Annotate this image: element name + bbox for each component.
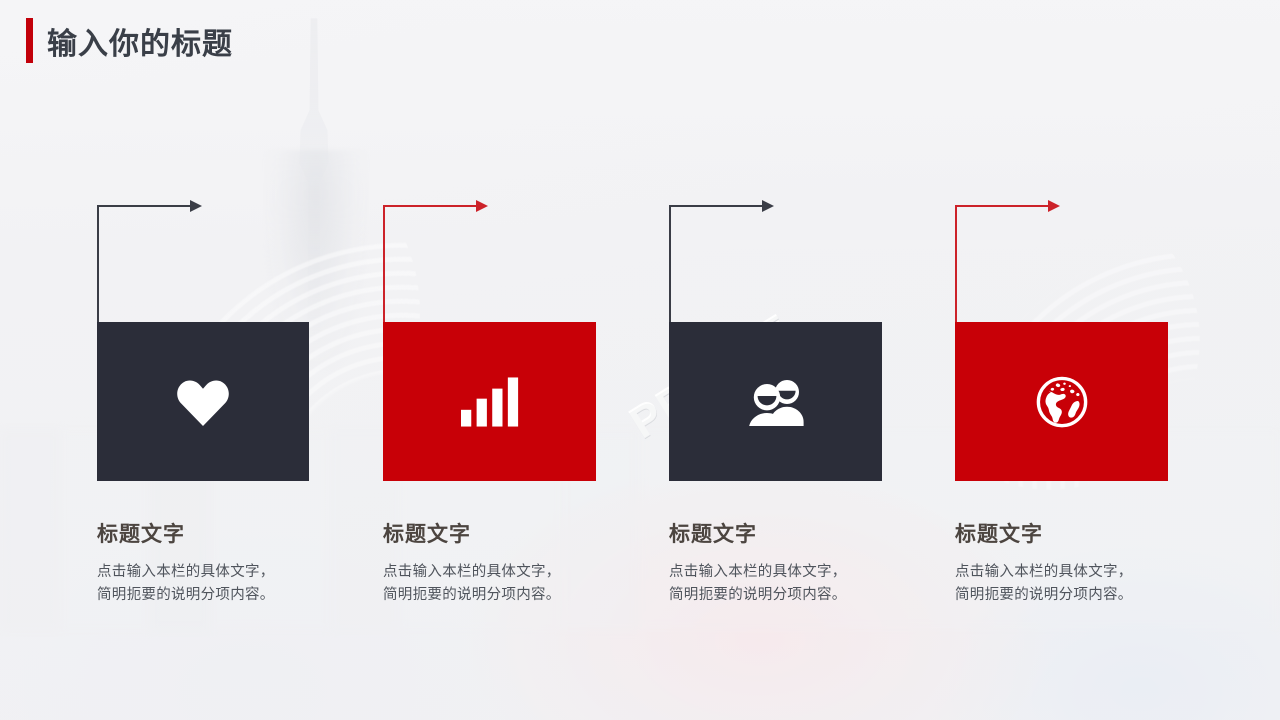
column-body-3: 点击输入本栏的具体文字， 简明扼要的说明分项内容。 (669, 561, 919, 608)
connector-arrow-3 (669, 205, 889, 325)
column-body-line2-1: 简明扼要的说明分项内容。 (97, 584, 347, 607)
bar-chart-icon (457, 369, 523, 435)
connector-arrow-2 (383, 205, 603, 325)
column-text-4: 标题文字 点击输入本栏的具体文字， 简明扼要的说明分项内容。 (955, 518, 1205, 608)
slide-canvas: PPT边框 输入你的标题 标题文字 点击输 (0, 0, 1280, 720)
column-body-4: 点击输入本栏的具体文字， 简明扼要的说明分项内容。 (955, 561, 1205, 608)
column-body-line1-3: 点击输入本栏的具体文字， (669, 561, 919, 584)
column-text-3: 标题文字 点击输入本栏的具体文字， 简明扼要的说明分项内容。 (669, 518, 919, 608)
connector-arrow-4 (955, 205, 1175, 325)
column-body-line2-3: 简明扼要的说明分项内容。 (669, 584, 919, 607)
heart-icon (170, 369, 236, 435)
column-title-2: 标题文字 (383, 518, 633, 548)
column-body-line1-1: 点击输入本栏的具体文字， (97, 561, 347, 584)
icon-panel-1[interactable] (97, 322, 309, 481)
column-2[interactable]: 标题文字 点击输入本栏的具体文字， 简明扼要的说明分项内容。 (383, 0, 671, 720)
column-1[interactable]: 标题文字 点击输入本栏的具体文字， 简明扼要的说明分项内容。 (97, 0, 385, 720)
column-title-3: 标题文字 (669, 518, 919, 548)
connector-arrow-1 (97, 205, 317, 325)
icon-panel-4[interactable] (955, 322, 1168, 481)
column-title-1: 标题文字 (97, 518, 347, 548)
icon-panel-3[interactable] (669, 322, 882, 481)
column-3[interactable]: 标题文字 点击输入本栏的具体文字， 简明扼要的说明分项内容。 (669, 0, 957, 720)
column-title-4: 标题文字 (955, 518, 1205, 548)
content-columns: 标题文字 点击输入本栏的具体文字， 简明扼要的说明分项内容。 (0, 0, 1280, 720)
column-body-line1-2: 点击输入本栏的具体文字， (383, 561, 633, 584)
users-icon (743, 369, 809, 435)
column-body-line1-4: 点击输入本栏的具体文字， (955, 561, 1205, 584)
column-4[interactable]: 标题文字 点击输入本栏的具体文字， 简明扼要的说明分项内容。 (955, 0, 1243, 720)
globe-icon (1029, 369, 1095, 435)
icon-panel-2[interactable] (383, 322, 596, 481)
column-body-2: 点击输入本栏的具体文字， 简明扼要的说明分项内容。 (383, 561, 633, 608)
column-body-1: 点击输入本栏的具体文字， 简明扼要的说明分项内容。 (97, 561, 347, 608)
column-text-1: 标题文字 点击输入本栏的具体文字， 简明扼要的说明分项内容。 (97, 518, 347, 608)
column-body-line2-2: 简明扼要的说明分项内容。 (383, 584, 633, 607)
column-text-2: 标题文字 点击输入本栏的具体文字， 简明扼要的说明分项内容。 (383, 518, 633, 608)
column-body-line2-4: 简明扼要的说明分项内容。 (955, 584, 1205, 607)
